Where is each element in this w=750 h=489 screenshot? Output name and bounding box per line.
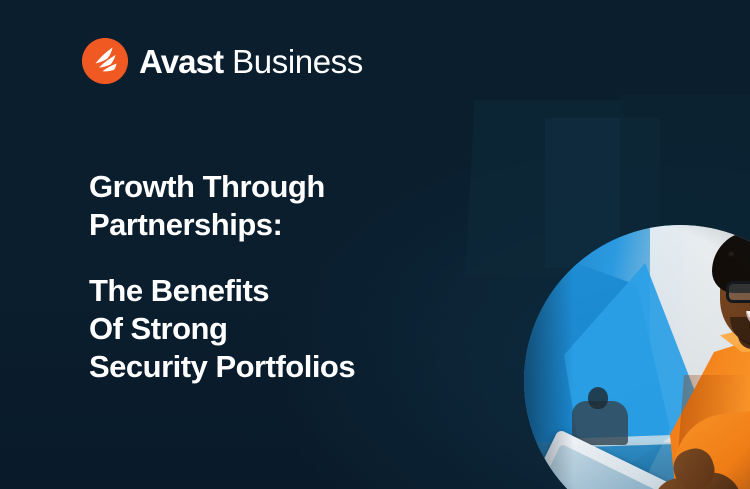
- logo-brand-text: Avast: [139, 45, 223, 78]
- headline-line: The Benefits: [89, 272, 509, 310]
- headline-block-primary: Growth Through Partnerships:: [89, 168, 509, 244]
- avast-swoosh-icon: [82, 38, 128, 84]
- headline-block-secondary: The Benefits Of Strong Security Portfoli…: [89, 272, 509, 386]
- headline-line: Growth Through: [89, 168, 509, 206]
- logo-wordmark: Avast Business: [139, 45, 363, 78]
- logo-product-text: Business: [232, 45, 363, 78]
- marketing-banner: Avast Business Growth Through Partnershi…: [0, 0, 750, 489]
- avast-business-logo[interactable]: Avast Business: [82, 36, 363, 86]
- glasses-lens-left: [726, 281, 750, 303]
- hero-photo-circle: [524, 225, 750, 489]
- hero-photo: [524, 225, 750, 489]
- headline-line: Of Strong: [89, 310, 509, 348]
- person-hair-texture: [714, 233, 750, 285]
- person-glasses-icon: [724, 281, 750, 303]
- headline-line: Security Portfolios: [89, 348, 509, 386]
- foreground-person: [524, 225, 750, 489]
- headline: Growth Through Partnerships: The Benefit…: [89, 168, 509, 386]
- headline-line: Partnerships:: [89, 206, 509, 244]
- headline-spacer: [89, 244, 509, 272]
